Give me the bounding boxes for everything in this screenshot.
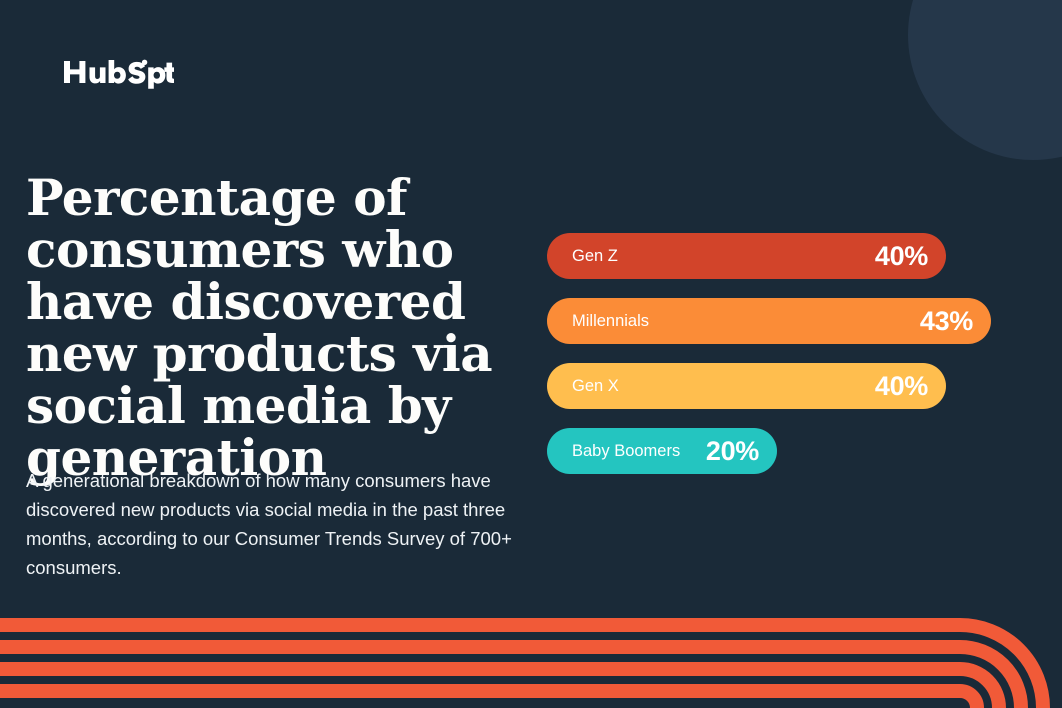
description-paragraph: A generational breakdown of how many con… bbox=[26, 466, 542, 582]
bar-row: Baby Boomers 20% bbox=[547, 428, 991, 474]
bar-millennials[interactable]: Millennials 43% bbox=[547, 298, 991, 344]
bar-value: 43% bbox=[920, 306, 973, 337]
bar-label: Baby Boomers bbox=[572, 442, 680, 461]
decorative-circle bbox=[908, 0, 1062, 160]
bar-chart: Gen Z 40% Millennials 43% Gen X 40% Baby… bbox=[547, 233, 991, 493]
bar-value: 40% bbox=[875, 371, 928, 402]
bar-baby-boomers[interactable]: Baby Boomers 20% bbox=[547, 428, 777, 474]
bar-label: Gen X bbox=[572, 377, 619, 396]
bar-label: Millennials bbox=[572, 312, 649, 331]
infographic-canvas: Percentage of consumers who have discove… bbox=[0, 0, 1062, 708]
hubspot-logo bbox=[62, 52, 174, 92]
bar-row: Millennials 43% bbox=[547, 298, 991, 344]
bar-gen-z[interactable]: Gen Z 40% bbox=[547, 233, 946, 279]
decorative-stripes bbox=[0, 600, 1062, 708]
bar-row: Gen Z 40% bbox=[547, 233, 991, 279]
bar-gen-x[interactable]: Gen X 40% bbox=[547, 363, 946, 409]
page-title: Percentage of consumers who have discove… bbox=[26, 172, 546, 484]
bar-value: 40% bbox=[875, 241, 928, 272]
bar-value: 20% bbox=[706, 436, 759, 467]
bar-row: Gen X 40% bbox=[547, 363, 991, 409]
bar-label: Gen Z bbox=[572, 247, 618, 266]
